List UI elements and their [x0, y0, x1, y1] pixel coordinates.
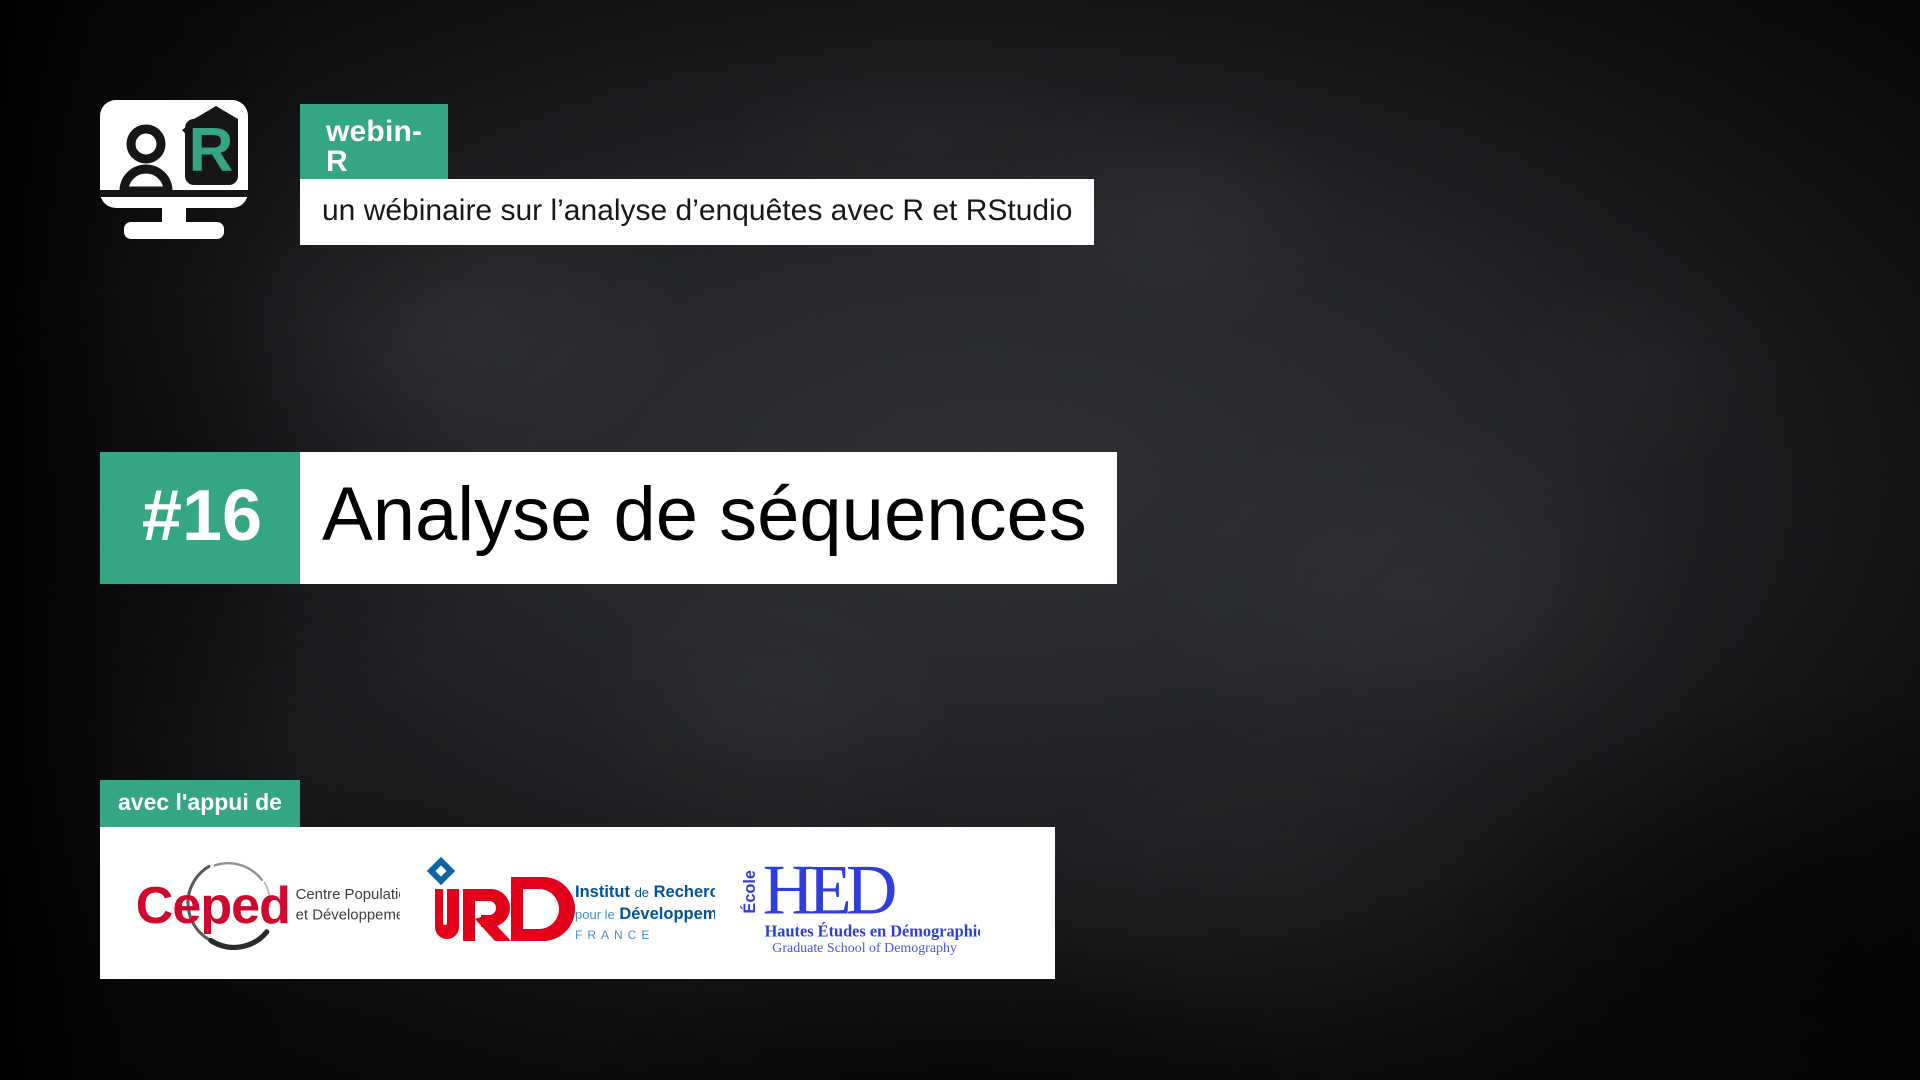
- ird-logo: Institut de Recherche pour le Développem…: [410, 827, 720, 979]
- webin-r-monitor-logo: R: [98, 92, 250, 244]
- session-title: #16 Analyse de séquences: [100, 452, 1117, 584]
- svg-text:pour le Développement: pour le Développement: [575, 905, 715, 923]
- svg-text:École: École: [740, 870, 759, 914]
- svg-text:Ceped: Ceped: [136, 877, 290, 935]
- svg-text:FRANCE: FRANCE: [575, 928, 654, 942]
- brand-tagline: un wébinaire sur l’analyse d’enquêtes av…: [300, 179, 1094, 245]
- svg-text:R: R: [189, 116, 234, 185]
- svg-text:Centre Population: Centre Population: [296, 886, 400, 903]
- svg-text:HED: HED: [763, 852, 895, 930]
- ceped-logo: Ceped Centre Population et Développement: [110, 827, 410, 979]
- partners-block: avec l'appui de Ceped Centre Population …: [100, 780, 1055, 979]
- svg-text:et Développement: et Développement: [296, 906, 400, 923]
- partners-logo-bar: Ceped Centre Population et Développement: [100, 827, 1055, 979]
- svg-text:Hautes Études en Démographie: Hautes Études en Démographie: [765, 922, 980, 941]
- session-number-badge: #16: [100, 452, 300, 584]
- hed-logo: École HED Hautes Études en Démographie G…: [720, 827, 990, 979]
- svg-text:Institut de Recherche: Institut de Recherche: [575, 883, 715, 901]
- partners-label: avec l'appui de: [100, 780, 300, 827]
- slide-canvas: R webin-R un wébinaire sur l’analyse d’e…: [0, 0, 1920, 1080]
- svg-text:Graduate School of Demography: Graduate School of Demography: [772, 941, 957, 956]
- session-title-text: Analyse de séquences: [300, 452, 1117, 584]
